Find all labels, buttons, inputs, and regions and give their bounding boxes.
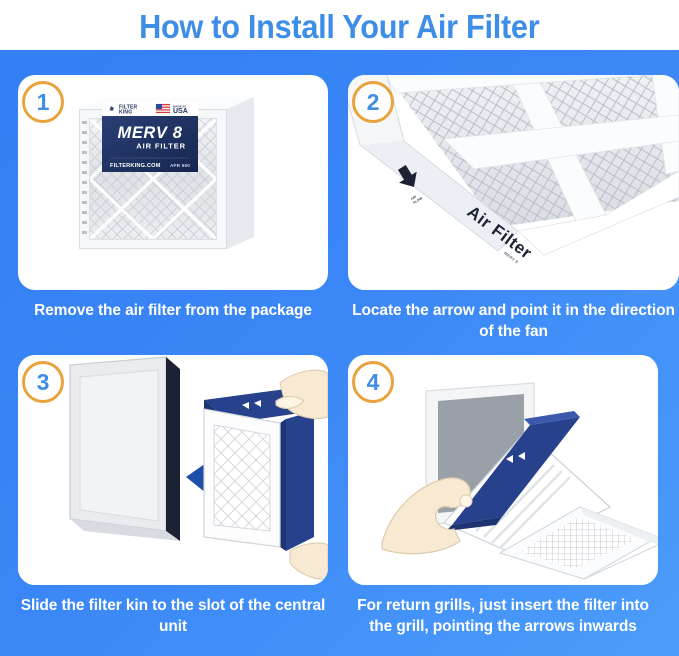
step-3-badge: 3 bbox=[22, 361, 64, 403]
step-4-number: 4 bbox=[367, 369, 380, 396]
svg-text:USA: USA bbox=[173, 108, 188, 115]
step-3-caption: Slide the filter kin to the slot of the … bbox=[18, 596, 328, 638]
step-2-caption: Locate the arrow and point it in the dir… bbox=[348, 301, 679, 343]
slide-filter-into-slot-illustration bbox=[18, 355, 328, 585]
step-1-badge: 1 bbox=[22, 81, 64, 123]
step-4-card bbox=[348, 355, 658, 585]
step-4-badge: 4 bbox=[352, 361, 394, 403]
infographic-root: How to Install Your Air Filter bbox=[0, 0, 679, 656]
air-filter-product-photo: FILTER KING bbox=[18, 75, 328, 290]
step-3-card bbox=[18, 355, 328, 585]
step-1-card: FILTER KING bbox=[18, 75, 328, 290]
title-band: How to Install Your Air Filter bbox=[0, 0, 679, 50]
step-4-caption: For return grills, just insert the filte… bbox=[348, 596, 658, 638]
step-1: FILTER KING bbox=[18, 75, 328, 355]
step-1-caption: Remove the air filter from the package bbox=[18, 301, 328, 322]
filter-edge-arrow-photo: AIR FLOW Air Filter MERV 8 bbox=[348, 75, 679, 290]
insert-filter-into-return-grill-illustration bbox=[348, 355, 658, 585]
step-1-number: 1 bbox=[37, 89, 50, 116]
step-3-number: 3 bbox=[37, 369, 50, 396]
svg-text:APR 650: APR 650 bbox=[170, 163, 190, 168]
svg-text:KING: KING bbox=[119, 110, 132, 116]
svg-text:AIR FILTER: AIR FILTER bbox=[136, 142, 186, 151]
step-2-badge: 2 bbox=[352, 81, 394, 123]
svg-text:FILTERKING.COM: FILTERKING.COM bbox=[110, 163, 161, 169]
step-2-number: 2 bbox=[367, 89, 380, 116]
page-title: How to Install Your Air Filter bbox=[139, 10, 539, 43]
steps-grid: FILTER KING bbox=[0, 50, 679, 656]
svg-text:MERV 8: MERV 8 bbox=[117, 124, 182, 142]
step-3: 3 Slide the filter kin to the slot of th… bbox=[18, 355, 328, 650]
step-4: 4 For return grills, just insert the fil… bbox=[348, 355, 658, 650]
step-2: AIR FLOW Air Filter MERV 8 2 Locate the … bbox=[348, 75, 679, 355]
step-2-card: AIR FLOW Air Filter MERV 8 bbox=[348, 75, 679, 290]
